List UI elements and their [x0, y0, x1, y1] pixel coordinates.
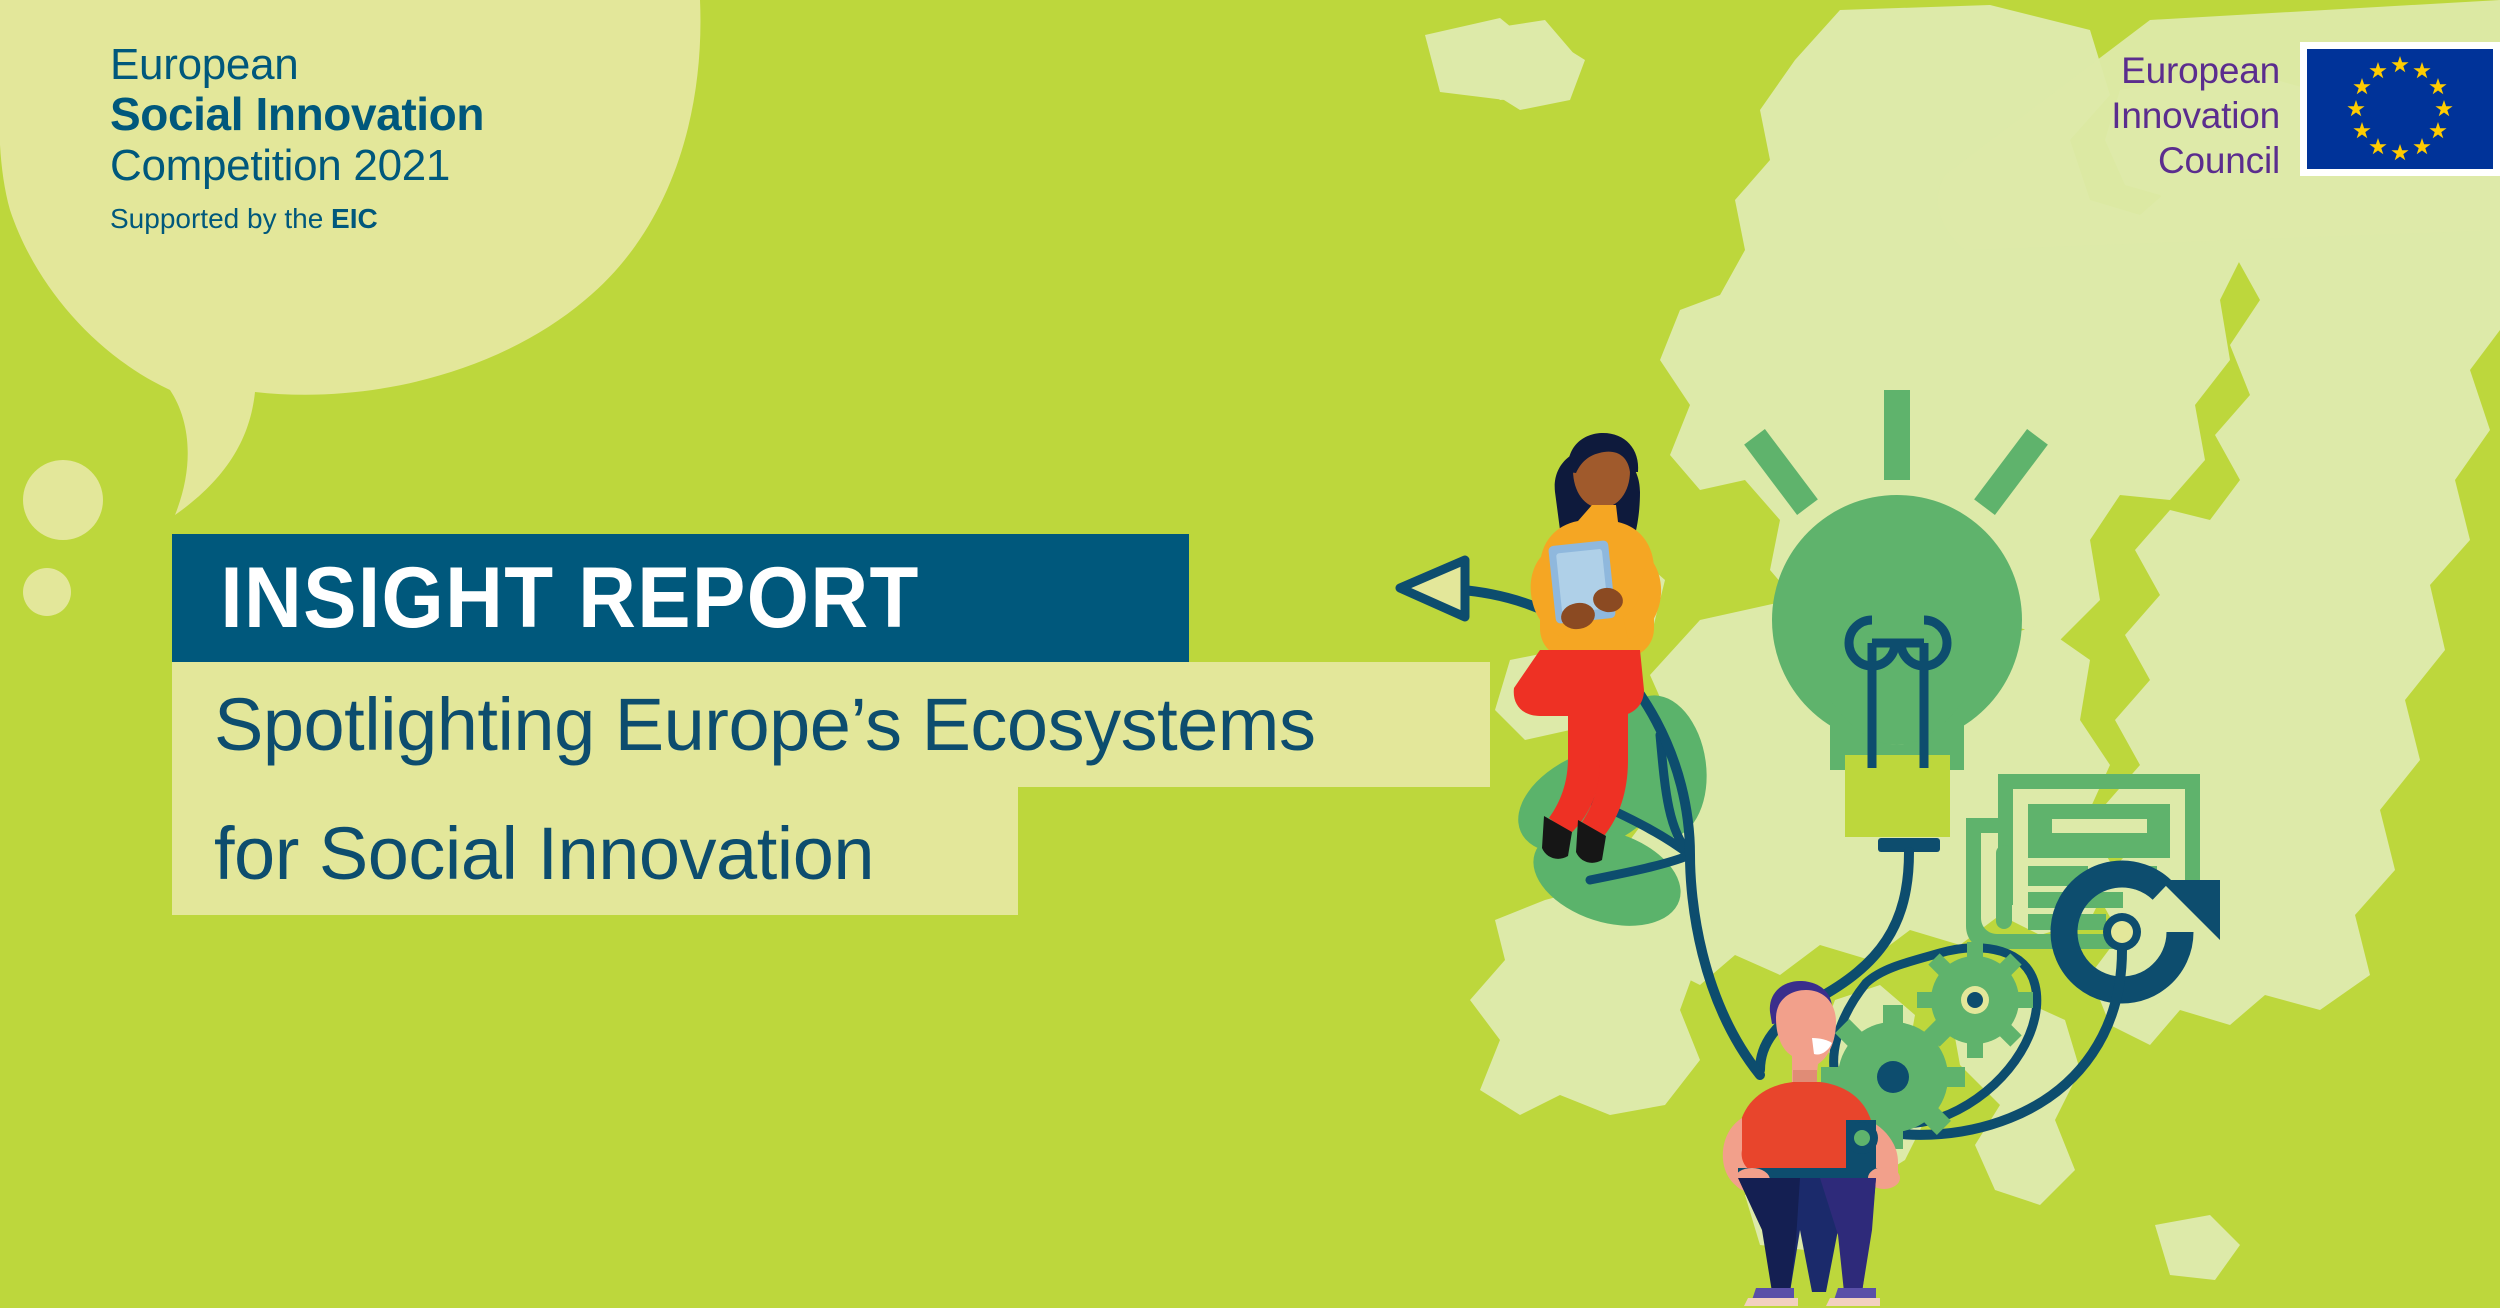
- brand-line-european: European: [110, 40, 670, 89]
- eic-line-council: Council: [2111, 138, 2280, 183]
- poster-canvas: European Social Innovation Competition 2…: [0, 0, 2500, 1308]
- brand-line-competition-2021: Competition 2021: [110, 141, 670, 192]
- arrow-left-icon: [1400, 560, 1465, 617]
- subtitle-line-1: Spotlighting Europe’s Ecosystems: [214, 662, 1532, 787]
- eic-wordmark: European Innovation Council: [2111, 42, 2280, 183]
- eu-star-ring: [2347, 56, 2452, 160]
- page-subtitle: Spotlighting Europe’s Ecosystems for Soc…: [172, 662, 1532, 912]
- headline-bar: INSIGHT REPORT: [172, 534, 1189, 662]
- newspaper-icon: [1966, 774, 2200, 949]
- brand-line-social-innovation: Social Innovation: [110, 89, 670, 141]
- brand-supported-by: Supported by the EIC: [110, 203, 670, 235]
- refresh-arrow-icon: [2064, 874, 2220, 1070]
- eic-lockup: European Innovation Council: [2111, 42, 2500, 183]
- eu-flag-frame: [2300, 42, 2500, 176]
- supported-eic-text: EIC: [331, 203, 378, 234]
- eic-line-innovation: Innovation: [2111, 93, 2280, 138]
- brand-lockup: European Social Innovation Competition 2…: [110, 40, 670, 235]
- supported-prefix-text: Supported by the: [110, 203, 331, 234]
- european-union-flag-icon: [2307, 49, 2493, 169]
- page-title: INSIGHT REPORT: [172, 549, 920, 648]
- eu-stars-svg: [2307, 49, 2493, 169]
- eic-line-european: European: [2111, 48, 2280, 93]
- subtitle-line-2: for Social Innovation: [214, 791, 1532, 916]
